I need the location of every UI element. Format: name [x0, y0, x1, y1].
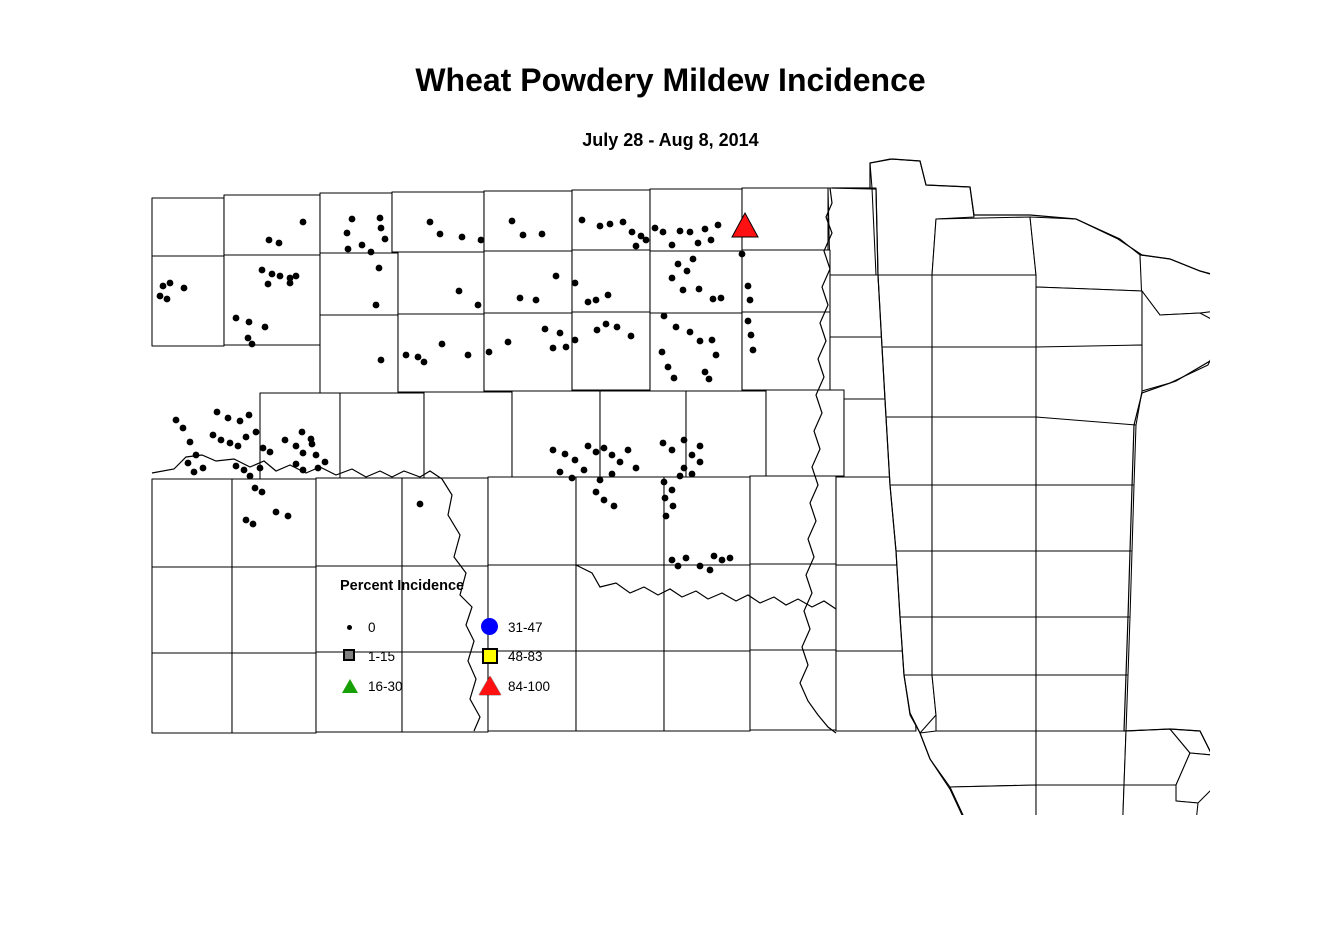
survey-point	[745, 283, 752, 290]
survey-point	[670, 503, 677, 510]
survey-point	[382, 236, 389, 243]
page-subtitle: July 28 - Aug 8, 2014	[0, 130, 1341, 151]
survey-point	[677, 473, 684, 480]
small-black-dot-icon	[338, 616, 364, 638]
survey-point	[173, 417, 180, 424]
survey-point	[421, 359, 428, 366]
survey-point	[719, 557, 726, 564]
survey-point	[478, 237, 485, 244]
legend-item-16-30[interactable]: 16-30	[338, 675, 403, 697]
survey-point	[300, 219, 307, 226]
survey-point	[415, 354, 422, 361]
survey-point	[368, 249, 375, 256]
survey-point	[486, 349, 493, 356]
survey-point	[593, 449, 600, 456]
survey-point	[689, 471, 696, 478]
survey-point	[643, 237, 650, 244]
survey-point	[669, 447, 676, 454]
survey-point	[572, 337, 579, 344]
survey-point	[459, 234, 466, 241]
survey-point	[617, 459, 624, 466]
survey-point	[697, 563, 704, 570]
survey-point	[669, 557, 676, 564]
survey-point	[465, 352, 472, 359]
survey-point	[259, 489, 266, 496]
legend-item-1-15[interactable]: 1-15	[338, 645, 395, 667]
legend-label-84-100: 84-100	[508, 679, 550, 694]
survey-point	[276, 240, 283, 247]
blue-circle-icon	[478, 616, 504, 638]
survey-point	[376, 265, 383, 272]
map-page: Wheat Powdery Mildew Incidence July 28 -…	[0, 0, 1341, 926]
survey-point	[505, 339, 512, 346]
survey-point	[601, 445, 608, 452]
survey-point	[593, 297, 600, 304]
survey-point	[193, 452, 200, 459]
survey-point	[594, 327, 601, 334]
survey-point	[659, 349, 666, 356]
survey-point	[200, 465, 207, 472]
survey-point	[265, 281, 272, 288]
survey-point	[345, 246, 352, 253]
yellow-square-icon	[478, 645, 504, 667]
survey-point	[293, 443, 300, 450]
survey-point	[660, 440, 667, 447]
red-triangle-icon	[478, 675, 504, 697]
survey-point	[585, 299, 592, 306]
survey-point	[287, 280, 294, 287]
survey-point	[696, 286, 703, 293]
survey-point	[246, 319, 253, 326]
survey-point	[652, 225, 659, 232]
legend-label-48-83: 48-83	[508, 649, 543, 664]
survey-point	[702, 226, 709, 233]
survey-point	[697, 459, 704, 466]
survey-point	[710, 296, 717, 303]
survey-point	[597, 477, 604, 484]
survey-point	[185, 460, 192, 467]
survey-point	[629, 229, 636, 236]
survey-point	[267, 449, 274, 456]
survey-point	[614, 324, 621, 331]
green-triangle-icon	[338, 675, 364, 697]
survey-point	[378, 225, 385, 232]
survey-point	[661, 479, 668, 486]
map-canvas[interactable]	[130, 155, 1210, 815]
survey-point	[563, 344, 570, 351]
survey-point	[266, 237, 273, 244]
survey-point	[709, 337, 716, 344]
legend-title: Percent Incidence	[340, 578, 608, 594]
survey-point	[611, 503, 618, 510]
survey-point	[233, 463, 240, 470]
survey-point	[246, 412, 253, 419]
survey-point	[605, 292, 612, 299]
survey-point	[680, 287, 687, 294]
survey-point	[690, 256, 697, 263]
survey-point	[241, 467, 248, 474]
survey-point	[579, 217, 586, 224]
survey-point	[562, 451, 569, 458]
survey-point	[427, 219, 434, 226]
survey-point	[711, 553, 718, 560]
survey-point	[625, 447, 632, 454]
survey-point	[235, 443, 242, 450]
survey-point	[245, 335, 252, 342]
survey-point	[417, 501, 424, 508]
survey-point	[660, 229, 667, 236]
survey-point	[257, 465, 264, 472]
survey-point	[681, 437, 688, 444]
survey-point	[509, 218, 516, 225]
legend-label-0: 0	[368, 620, 376, 635]
survey-point	[695, 240, 702, 247]
survey-point	[669, 275, 676, 282]
legend: Percent Incidence 0 1-15 16-30 31-47 48-…	[338, 578, 608, 718]
survey-point	[601, 497, 608, 504]
survey-point	[585, 443, 592, 450]
survey-point	[620, 219, 627, 226]
survey-point	[662, 495, 669, 502]
survey-point	[322, 459, 329, 466]
survey-point	[313, 452, 320, 459]
survey-point	[373, 302, 380, 309]
survey-point	[572, 457, 579, 464]
survey-point	[697, 443, 704, 450]
survey-point	[225, 415, 232, 422]
survey-point	[633, 465, 640, 472]
gray-square-icon	[338, 645, 364, 667]
survey-point	[553, 273, 560, 280]
survey-point	[282, 437, 289, 444]
survey-point	[437, 231, 444, 238]
survey-point	[557, 469, 564, 476]
survey-point	[675, 261, 682, 268]
survey-point	[557, 330, 564, 337]
survey-point	[160, 283, 167, 290]
survey-point	[689, 452, 696, 459]
survey-point	[344, 230, 351, 237]
survey-point	[517, 295, 524, 302]
legend-item-84-100[interactable]: 84-100	[478, 675, 550, 697]
survey-point	[439, 341, 446, 348]
survey-point	[300, 467, 307, 474]
survey-point	[259, 267, 266, 274]
survey-point	[675, 563, 682, 570]
survey-point	[669, 487, 676, 494]
survey-point	[609, 452, 616, 459]
survey-point	[665, 364, 672, 371]
survey-point	[569, 475, 576, 482]
survey-point	[533, 297, 540, 304]
survey-point	[377, 215, 384, 222]
survey-point	[293, 273, 300, 280]
survey-point	[456, 288, 463, 295]
map-svg	[130, 155, 1210, 815]
survey-point	[269, 271, 276, 278]
survey-point	[227, 440, 234, 447]
survey-point	[262, 324, 269, 331]
survey-point	[661, 313, 668, 320]
survey-point	[750, 347, 757, 354]
survey-point	[300, 450, 307, 457]
survey-point	[687, 329, 694, 336]
survey-point	[475, 302, 482, 309]
survey-point	[180, 425, 187, 432]
survey-point	[593, 489, 600, 496]
legend-label-31-47: 31-47	[508, 620, 543, 635]
survey-point	[713, 352, 720, 359]
survey-point	[718, 295, 725, 302]
survey-point	[247, 473, 254, 480]
survey-point	[237, 418, 244, 425]
survey-point	[697, 338, 704, 345]
survey-point	[539, 231, 546, 238]
survey-point	[550, 447, 557, 454]
survey-point	[260, 445, 267, 452]
survey-point	[673, 324, 680, 331]
survey-point	[581, 467, 588, 474]
survey-point	[684, 268, 691, 275]
survey-point	[164, 296, 171, 303]
survey-point	[663, 513, 670, 520]
survey-point	[727, 555, 734, 562]
survey-point	[293, 461, 300, 468]
survey-point	[214, 409, 221, 416]
survey-point	[683, 555, 690, 562]
survey-point	[285, 513, 292, 520]
survey-point	[607, 221, 614, 228]
legend-item-31-47[interactable]: 31-47	[478, 616, 543, 638]
legend-label-16-30: 16-30	[368, 679, 403, 694]
survey-point	[378, 357, 385, 364]
survey-point	[308, 436, 315, 443]
survey-point	[520, 232, 527, 239]
survey-point	[218, 437, 225, 444]
legend-label-1-15: 1-15	[368, 649, 395, 664]
survey-point	[253, 429, 260, 436]
survey-point	[243, 517, 250, 524]
survey-point	[250, 521, 257, 528]
legend-item-0[interactable]: 0	[338, 616, 376, 638]
survey-point	[359, 242, 366, 249]
survey-point	[233, 315, 240, 322]
survey-point	[748, 332, 755, 339]
survey-point	[243, 434, 250, 441]
survey-point	[671, 375, 678, 382]
survey-point	[572, 280, 579, 287]
survey-point	[187, 439, 194, 446]
survey-point	[687, 229, 694, 236]
survey-point	[167, 280, 174, 287]
survey-point	[633, 243, 640, 250]
survey-point	[628, 333, 635, 340]
survey-point	[210, 432, 217, 439]
survey-point	[597, 223, 604, 230]
survey-point	[708, 237, 715, 244]
survey-point	[273, 509, 280, 516]
survey-point	[739, 251, 746, 258]
survey-point	[609, 471, 616, 478]
survey-point	[603, 321, 610, 328]
survey-point	[745, 318, 752, 325]
survey-point	[191, 469, 198, 476]
survey-point	[252, 485, 259, 492]
survey-point	[681, 465, 688, 472]
survey-point	[403, 352, 410, 359]
survey-point	[249, 341, 256, 348]
survey-point	[715, 222, 722, 229]
survey-point	[277, 273, 284, 280]
survey-point	[707, 567, 714, 574]
survey-point	[747, 297, 754, 304]
survey-point	[299, 429, 306, 436]
legend-item-48-83[interactable]: 48-83	[478, 645, 543, 667]
survey-point	[677, 228, 684, 235]
survey-point	[550, 345, 557, 352]
survey-point	[669, 242, 676, 249]
survey-point	[315, 465, 322, 472]
survey-point	[181, 285, 188, 292]
survey-point	[702, 369, 709, 376]
survey-point	[157, 293, 164, 300]
survey-point	[706, 376, 713, 383]
survey-point	[349, 216, 356, 223]
survey-point	[542, 326, 549, 333]
page-title: Wheat Powdery Mildew Incidence	[0, 62, 1341, 99]
